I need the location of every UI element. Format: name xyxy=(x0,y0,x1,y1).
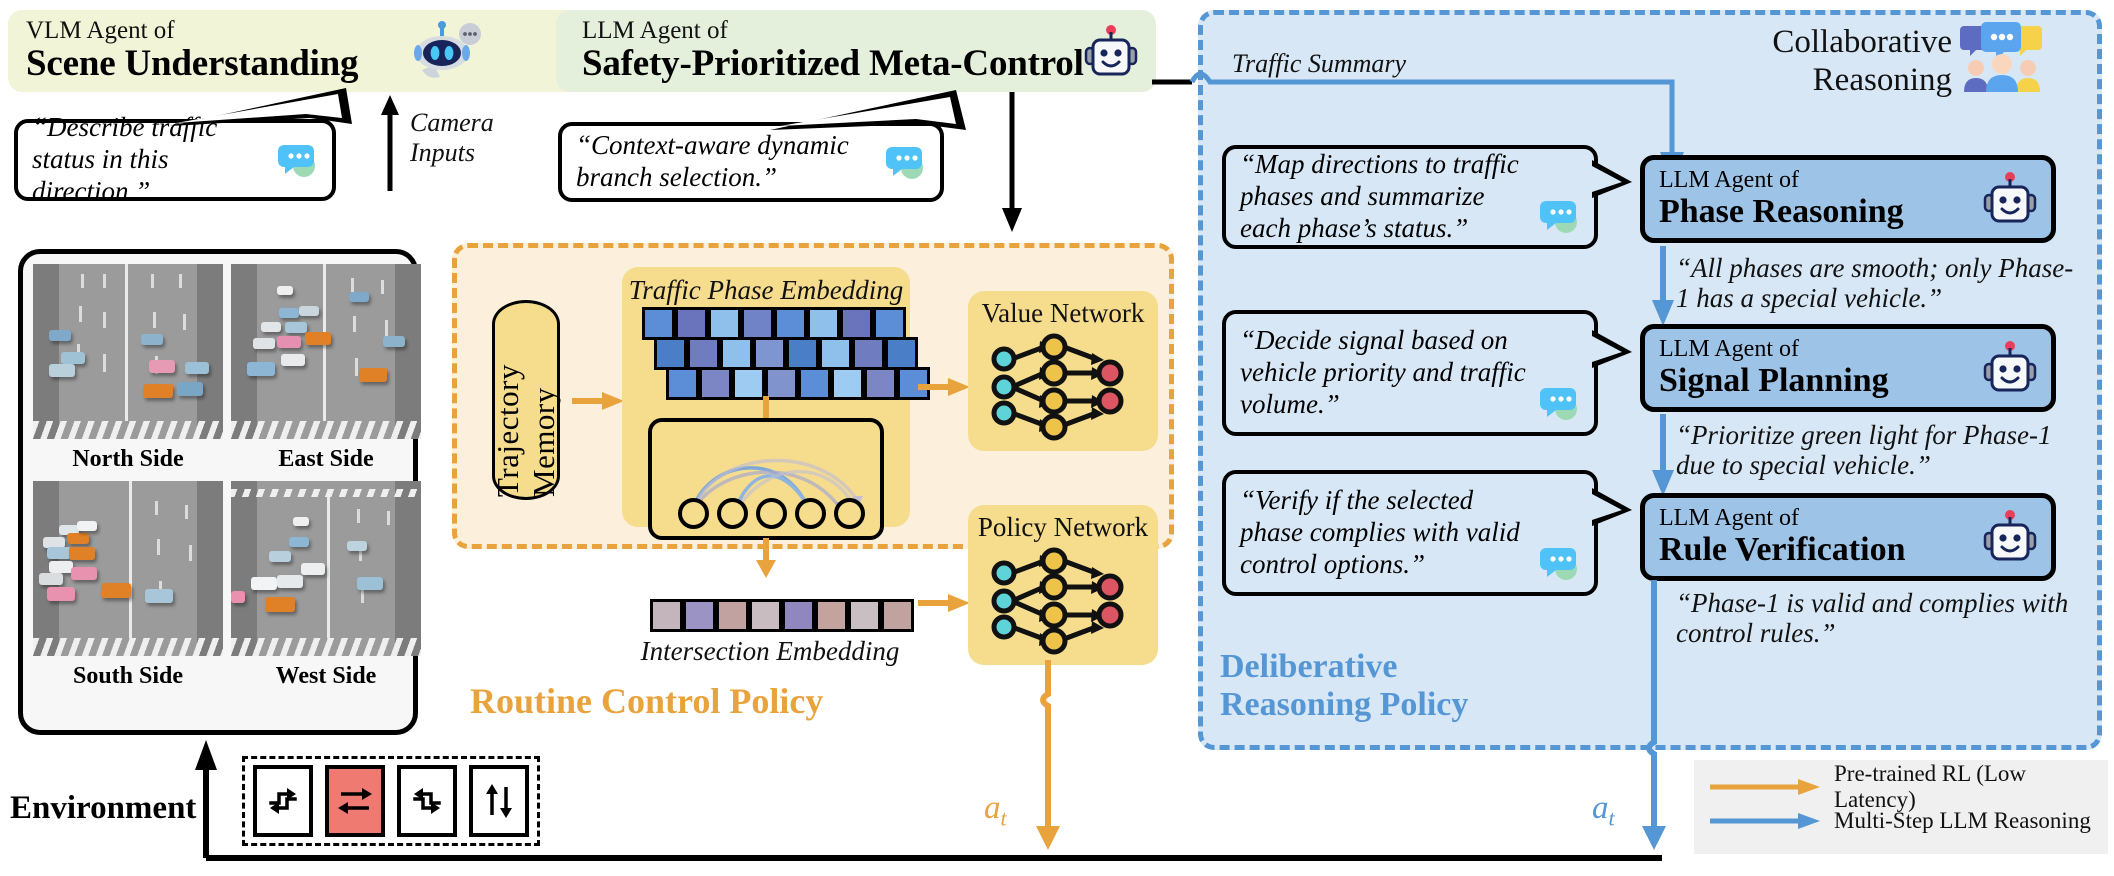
phase-option-straight-vertical[interactable] xyxy=(469,765,529,837)
policy-network-graph xyxy=(992,553,1144,657)
legend-row: Multi-Step LLM Reasoning xyxy=(1710,804,2092,838)
policy-network-card: Policy Network xyxy=(968,505,1158,665)
chat-bubble-icon xyxy=(886,143,926,181)
camera-inputs-label-line2: Inputs xyxy=(410,138,475,167)
robot-head-icon xyxy=(1983,339,2037,397)
rule-verification-subtitle: LLM Agent of xyxy=(1659,506,1983,531)
arrow-signal-to-rule xyxy=(1652,414,1676,496)
value-network-card: Value Network xyxy=(968,291,1158,451)
collaborative-reasoning-label: Collaborative Reasoning xyxy=(1700,24,1952,100)
camera-image-north xyxy=(33,264,223,439)
phase-reasoning-output-text: “All phases are smooth; only Phase-1 has… xyxy=(1676,253,2073,313)
rule-prompt-text: “Verify if the selected phase complies w… xyxy=(1240,485,1540,581)
deliberative-policy-label: Deliberative Reasoning Policy xyxy=(1220,648,1468,724)
intersection-embedding-row xyxy=(650,599,914,637)
chat-bubble-icon xyxy=(1540,544,1580,582)
camera-label-west: West Side xyxy=(276,656,377,698)
context-aware-text: “Context-aware dynamic branch selection.… xyxy=(576,130,886,194)
robot-face-icon xyxy=(408,22,482,82)
camera-view-north[interactable]: North Side xyxy=(33,264,223,481)
phase-reasoning-title: Phase Reasoning xyxy=(1659,193,1983,230)
rule-prompt-tail xyxy=(1592,488,1634,538)
collab-line1: Collaborative xyxy=(1700,24,1952,62)
legend-label-llm: Multi-Step LLM Reasoning xyxy=(1834,808,2091,834)
turn-right-pair-icon xyxy=(407,781,447,821)
signal-planning-subtitle: LLM Agent of xyxy=(1659,337,1983,362)
vlm-agent-banner: VLM Agent of Scene Understanding xyxy=(8,10,584,92)
legend-label-rl: Pre-trained RL (Low Latency) xyxy=(1834,761,2092,813)
rule-prompt-bubble: “Verify if the selected phase complies w… xyxy=(1222,470,1598,596)
attention-nodes xyxy=(678,498,865,529)
camera-view-south[interactable]: South Side xyxy=(33,481,223,698)
arrow-camera-inputs xyxy=(378,95,402,191)
robot-head-icon xyxy=(1983,170,2037,228)
chat-bubble-icon xyxy=(1540,384,1580,422)
phase-prompt-bubble: “Map directions to traffic phases and su… xyxy=(1222,145,1598,249)
camera-image-west xyxy=(231,481,421,656)
llm-agent-rule-verification[interactable]: LLM Agent of Rule Verification xyxy=(1640,493,2056,581)
attention-node xyxy=(678,498,709,529)
intersection-embedding-title: Intersection Embedding xyxy=(640,636,900,667)
chat-bubble-icon xyxy=(1540,197,1580,235)
attention-node xyxy=(795,498,826,529)
collab-line2: Reasoning xyxy=(1700,62,1952,100)
value-network-graph xyxy=(992,339,1144,443)
arrow-to-value-network xyxy=(918,376,970,398)
vlm-agent-title: Scene Understanding xyxy=(26,44,358,84)
llm-agent-signal-planning[interactable]: LLM Agent of Signal Planning xyxy=(1640,324,2056,412)
attention-module-box xyxy=(648,418,884,540)
rule-verification-output-text: “Phase-1 is valid and complies with cont… xyxy=(1676,588,2068,648)
signal-prompt-tail xyxy=(1592,330,1634,380)
signal-planning-output: “Prioritize green light for Phase-1 due … xyxy=(1676,420,2086,480)
camera-image-east xyxy=(231,264,421,439)
environment-label: Environment xyxy=(10,790,196,827)
meta-agent-subtitle: LLM Agent of xyxy=(582,18,1084,44)
turn-left-pair-icon xyxy=(263,781,303,821)
signal-planning-title: Signal Planning xyxy=(1659,362,1983,399)
camera-label-north: North Side xyxy=(72,439,183,481)
trajectory-memory-cylinder: Trajectory Memory xyxy=(492,300,560,500)
meta-agent-title: Safety-Prioritized Meta-Control xyxy=(582,44,1084,84)
attention-node xyxy=(834,498,865,529)
camera-view-east[interactable]: East Side xyxy=(231,264,421,481)
chat-bubble-icon xyxy=(278,141,318,179)
phase-option-left-turns[interactable] xyxy=(253,765,313,837)
traffic-phase-embedding-title: Traffic Phase Embedding xyxy=(622,267,910,306)
camera-view-west[interactable]: West Side xyxy=(231,481,421,698)
camera-inputs-label-line1: Camera xyxy=(410,108,494,137)
delib-label-line2: Reasoning Policy xyxy=(1220,686,1468,724)
legend-arrow-llm xyxy=(1710,812,1820,830)
signal-prompt-text: “Decide signal based on vehicle priority… xyxy=(1240,325,1540,421)
arrow-memory-to-embedding xyxy=(572,390,624,412)
straight-horizontal-pair-icon xyxy=(335,781,375,821)
arrow-phase-to-signal xyxy=(1652,246,1676,326)
trajectory-memory-label: Trajectory Memory xyxy=(490,303,562,497)
robot-head-icon xyxy=(1983,508,2037,566)
signal-prompt-bubble: “Decide signal based on vehicle priority… xyxy=(1222,310,1598,436)
diagram-canvas: VLM Agent of Scene Understanding xyxy=(0,0,2114,876)
policy-network-title: Policy Network xyxy=(968,505,1158,543)
collaboration-people-icon xyxy=(1962,20,2042,92)
phase-options-group xyxy=(242,756,540,846)
value-network-title: Value Network xyxy=(968,291,1158,329)
robot-head-icon xyxy=(1084,24,1138,80)
meta-control-banner: LLM Agent of Safety-Prioritized Meta-Con… xyxy=(556,10,1156,92)
attention-node xyxy=(717,498,748,529)
describe-bubble-tail xyxy=(170,88,370,134)
camera-views-panel: North Side xyxy=(18,249,418,735)
legend-arrow-rl xyxy=(1710,778,1820,796)
phase-option-straight-horizontal[interactable] xyxy=(325,765,385,837)
vlm-agent-subtitle: VLM Agent of xyxy=(26,18,358,44)
straight-vertical-pair-icon xyxy=(479,781,519,821)
context-bubble-tail xyxy=(770,90,980,136)
camera-image-south xyxy=(33,481,223,656)
camera-label-east: East Side xyxy=(278,439,373,481)
phase-option-right-turns[interactable] xyxy=(397,765,457,837)
phase-prompt-tail xyxy=(1592,160,1634,210)
phase-reasoning-output: “All phases are smooth; only Phase-1 has… xyxy=(1676,253,2076,313)
legend-panel: Pre-trained RL (Low Latency) Multi-Step … xyxy=(1694,760,2108,854)
legend-row: Pre-trained RL (Low Latency) xyxy=(1710,770,2092,804)
signal-planning-output-text: “Prioritize green light for Phase-1 due … xyxy=(1676,420,2051,480)
rule-verification-output: “Phase-1 is valid and complies with cont… xyxy=(1676,588,2086,648)
routine-policy-label: Routine Control Policy xyxy=(470,680,823,722)
llm-agent-phase-reasoning[interactable]: LLM Agent of Phase Reasoning xyxy=(1640,155,2056,243)
arrow-to-policy-network xyxy=(918,592,970,614)
camera-label-south: South Side xyxy=(73,656,183,698)
phase-prompt-text: “Map directions to traffic phases and su… xyxy=(1240,149,1540,245)
arrow-attention-to-intersection xyxy=(755,538,777,578)
arrow-meta-to-routine xyxy=(1000,92,1024,232)
rule-verification-title: Rule Verification xyxy=(1659,531,1983,568)
phase-reasoning-subtitle: LLM Agent of xyxy=(1659,168,1983,193)
attention-node xyxy=(756,498,787,529)
delib-label-line1: Deliberative xyxy=(1220,648,1468,686)
